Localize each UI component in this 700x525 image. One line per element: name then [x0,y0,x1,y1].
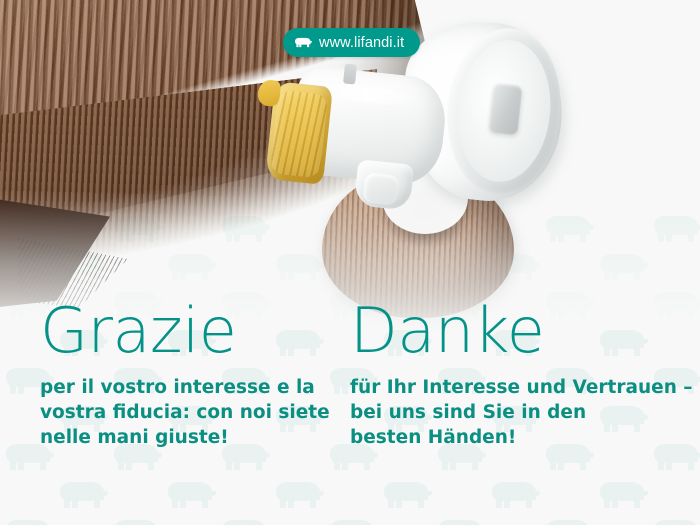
column-german: Danke für Ihr Interesse und Vertrauen – … [350,300,690,525]
headline-italian: Grazie [40,300,350,362]
body-italian: per il vostro interesse e la vostra fidu… [40,376,350,450]
megaphone-nub [343,63,357,84]
megaphone-tip [257,79,282,107]
body-italian-line-2: vostra fiducia: con noi siete [40,401,350,426]
elephant-icon [295,36,312,49]
body-german-line-2: bei uns sind Sie in den [350,401,690,426]
megaphone-band-ridges [270,90,329,179]
website-badge[interactable]: www.lifandi.it [283,28,420,57]
website-url-text: www.lifandi.it [319,35,404,51]
column-italian: Grazie per il vostro interesse e la vost… [0,300,350,525]
headline-german: Danke [350,300,690,362]
thank-you-graphic: www.lifandi.it Grazie per il vostro inte… [0,0,700,525]
body-german: für Ihr Interesse und Vertrauen – bei un… [350,376,690,450]
megaphone-trigger-button [363,172,400,205]
body-italian-line-3: nelle mani giuste! [40,426,350,451]
body-german-line-1: für Ihr Interesse und Vertrauen – [350,376,690,401]
body-german-line-3: besten Händen! [350,426,690,451]
megaphone-clip [487,83,522,136]
body-italian-line-1: per il vostro interesse e la [40,376,350,401]
message-columns: Grazie per il vostro interesse e la vost… [0,300,700,525]
